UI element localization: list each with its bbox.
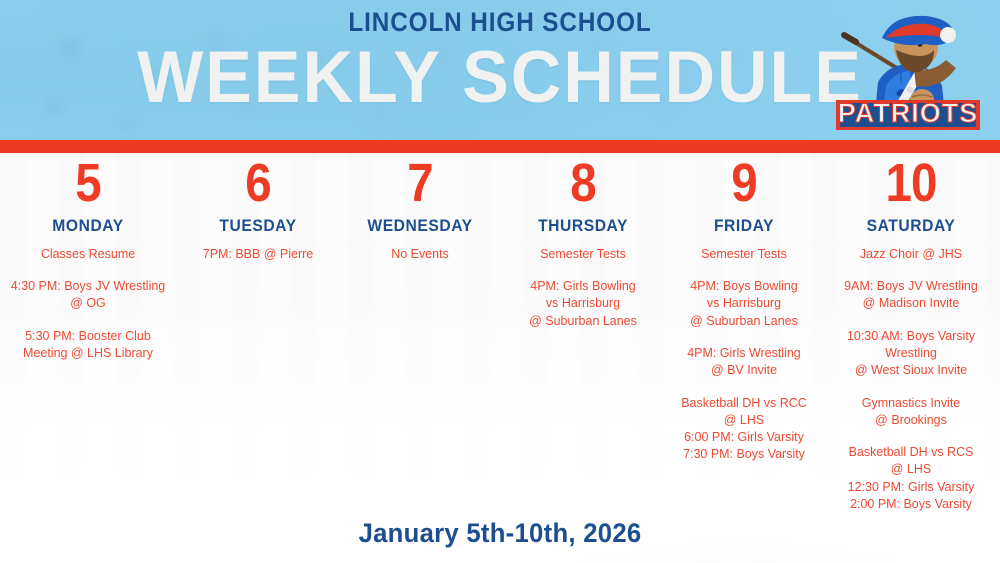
events-list: Semester Tests 4PM: Girls Bowling vs Har… — [504, 245, 662, 329]
event-item: 5:30 PM: Booster Club Meeting @ LHS Libr… — [7, 327, 168, 362]
day-column-friday: 9 FRIDAY Semester Tests 4PM: Boys Bowlin… — [666, 158, 822, 506]
event-item: Classes Resume — [7, 245, 168, 262]
event-item: 10:30 AM: Boys Varsity Wrestling @ West … — [829, 327, 992, 379]
day-name: SATURDAY — [833, 216, 989, 236]
date-range-label: January 5th-10th, 2026 — [25, 518, 975, 549]
day-name: MONDAY — [11, 216, 166, 236]
day-number: 5 — [14, 158, 162, 210]
event-item: 4PM: Boys Bowling vs Harrisburg @ Suburb… — [673, 277, 815, 329]
header-banner: LINCOLN HIGH SCHOOL WEEKLY SCHEDULE — [0, 0, 1000, 140]
events-list: No Events — [344, 245, 496, 262]
weekly-schedule-poster: LINCOLN HIGH SCHOOL WEEKLY SCHEDULE — [0, 0, 1000, 563]
day-number: 8 — [513, 158, 652, 210]
events-list: Classes Resume 4:30 PM: Boys JV Wrestlin… — [4, 245, 172, 361]
event-item: Semester Tests — [507, 245, 659, 262]
day-name: FRIDAY — [676, 216, 812, 236]
day-number: 10 — [836, 158, 986, 210]
patriot-mascot-logo-icon: PATRIOTS — [830, 8, 986, 134]
event-item: 4:30 PM: Boys JV Wrestling @ OG — [7, 277, 168, 312]
day-number: 6 — [189, 158, 326, 210]
event-item: 4PM: Girls Wrestling @ BV Invite — [673, 344, 815, 379]
day-number: 7 — [353, 158, 487, 210]
day-column-monday: 5 MONDAY Classes Resume 4:30 PM: Boys JV… — [0, 158, 176, 506]
school-name: LINCOLN HIGH SCHOOL — [50, 7, 950, 38]
events-list: Jazz Choir @ JHS 9AM: Boys JV Wrestling … — [826, 245, 996, 512]
day-name: WEDNESDAY — [350, 216, 490, 236]
event-item: Basketball DH vs RCS @ LHS 12:30 PM: Gir… — [829, 443, 992, 512]
events-list: Semester Tests 4PM: Boys Bowling vs Harr… — [670, 245, 818, 463]
day-name: TUESDAY — [186, 216, 330, 236]
day-number: 9 — [679, 158, 809, 210]
event-item: Basketball DH vs RCC @ LHS 6:00 PM: Girl… — [673, 394, 815, 463]
event-item: No Events — [347, 245, 493, 262]
event-item: 9AM: Boys JV Wrestling @ Madison Invite — [829, 277, 992, 312]
event-item: Gymnastics Invite @ Brookings — [829, 394, 992, 429]
event-item: 7PM: BBB @ Pierre — [183, 245, 333, 262]
svg-text:PATRIOTS: PATRIOTS — [838, 98, 979, 128]
day-column-tuesday: 6 TUESDAY 7PM: BBB @ Pierre — [176, 158, 340, 506]
event-item: Semester Tests — [673, 245, 815, 262]
event-item: Jazz Choir @ JHS — [829, 245, 992, 262]
day-name: THURSDAY — [510, 216, 655, 236]
schedule-grid: 5 MONDAY Classes Resume 4:30 PM: Boys JV… — [0, 158, 1000, 506]
event-item: 4PM: Girls Bowling vs Harrisburg @ Subur… — [507, 277, 659, 329]
events-list: 7PM: BBB @ Pierre — [180, 245, 336, 262]
red-divider-bar — [0, 140, 1000, 153]
day-column-saturday: 10 SATURDAY Jazz Choir @ JHS 9AM: Boys J… — [822, 158, 1000, 506]
day-column-wednesday: 7 WEDNESDAY No Events — [340, 158, 500, 506]
day-column-thursday: 8 THURSDAY Semester Tests 4PM: Girls Bow… — [500, 158, 666, 506]
